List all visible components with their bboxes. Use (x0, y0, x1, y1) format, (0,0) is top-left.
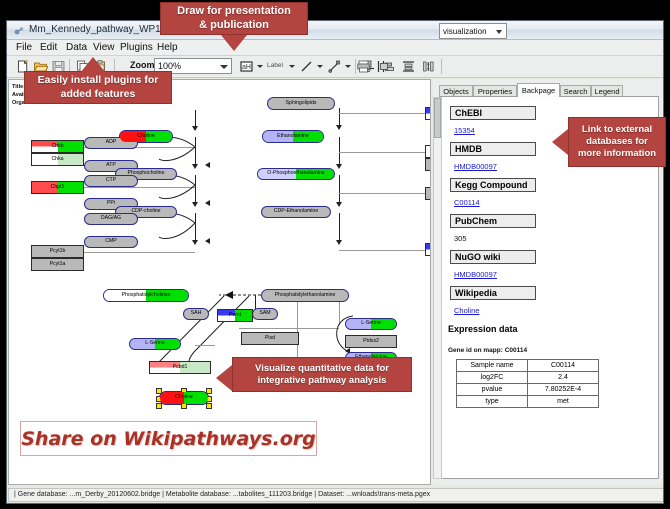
db-link-kegg[interactable]: C00114 (454, 198, 480, 207)
node-gene-sgpl1[interactable]: Sgpl1 (425, 107, 431, 120)
callout-plugins-arrow (80, 57, 106, 73)
line-icon[interactable] (299, 59, 314, 74)
callout-visualize-line1: Visualize quantitative data for (255, 363, 389, 375)
table-row: log2FC 2.4 (457, 372, 599, 384)
cell-label-log2fc: log2FC (457, 372, 528, 384)
callout-draw-arrow (221, 35, 247, 51)
node-gene-cept1[interactable]: Cept1 (425, 243, 431, 256)
statusbar: | Gene database: ...m_Derby_20120602.bri… (8, 488, 664, 502)
statusbar-text: | Gene database: ...m_Derby_20120602.bri… (14, 491, 430, 498)
anchor-dropdown-icon[interactable] (345, 65, 351, 68)
callout-draw: Draw for presentation & publication (160, 2, 308, 35)
edge-etnk-to-spine (339, 152, 425, 153)
window-titlebar: Mm_Kennedy_pathway_WP1771_45176.gpml (7, 21, 663, 40)
table-row: pvalue 7.80252E-4 (457, 384, 599, 396)
menu-help[interactable]: Help (155, 42, 180, 53)
panel-scrollbar-thumb[interactable] (434, 98, 441, 138)
label-dropdown-icon[interactable] (289, 65, 295, 68)
print-icon[interactable] (356, 59, 371, 74)
db-header-hmdb: HMDB (450, 142, 536, 156)
db-value-pubchem: 305 (454, 234, 467, 243)
menubar: File Edit Data View Plugins Help (7, 40, 663, 56)
arrow-ppi (205, 200, 210, 206)
table-row: type met (457, 396, 599, 408)
callout-plugins-line1: Easily install plugins for (38, 74, 159, 87)
svg-text:aH: aH (242, 64, 251, 71)
callout-visualize-line2: integrative pathway analysis (258, 375, 387, 387)
edge-lserine-left (195, 345, 215, 346)
node-gene-chpt1[interactable]: Chpt1 (31, 181, 84, 194)
node-gene-etnk1[interactable]: Etnk1 (425, 145, 431, 158)
distribute-horizontal-icon[interactable] (421, 59, 436, 74)
node-choline-top[interactable]: Choline (119, 130, 173, 143)
cell-label-type: type (457, 396, 528, 408)
db-header-chebi: ChEBI (450, 106, 536, 120)
menu-edit[interactable]: Edit (38, 42, 59, 53)
tab-backpage[interactable]: Backpage (517, 83, 560, 97)
datanode-icon[interactable]: aH (239, 59, 254, 74)
db-header-wikipedia: Wikipedia (450, 286, 536, 300)
chevron-down-icon (220, 65, 228, 69)
node-phosphatidylethanolamine[interactable]: Phosphatidylethanolamine (261, 289, 349, 302)
group-icon[interactable] (376, 59, 391, 74)
cell-value-type: met (528, 396, 599, 408)
edge-eth-down-2 (339, 175, 340, 205)
node-sah[interactable]: SAH (183, 308, 209, 320)
cell-value-sample: C00114 (528, 360, 599, 372)
node-gene-pcyt1b[interactable]: Pcyt1b (31, 245, 84, 258)
node-choline-selected[interactable]: Choline (159, 391, 209, 405)
expression-data-title: Expression data (448, 324, 518, 334)
db-link-hmdb[interactable]: HMDB00097 (454, 162, 497, 171)
gene-id-on-mapp: Gene id on mapp: C00114 (448, 347, 527, 354)
zoom-value: 100% (158, 61, 181, 71)
node-cdp-ethanolamine[interactable]: CDP-Ethanolamine (261, 206, 331, 218)
visualization-combobox[interactable]: visualization (439, 23, 507, 39)
node-ctp[interactable]: CTP (84, 175, 138, 187)
node-sam[interactable]: SAM (252, 308, 278, 320)
edge-sgpl1-to-spine (339, 113, 425, 114)
node-gene-pemt[interactable]: Pemt (217, 309, 253, 322)
menu-view[interactable]: View (91, 42, 117, 53)
callout-plugins-line2: added features (61, 88, 136, 101)
db-link-wikipedia[interactable]: Choline (454, 306, 479, 315)
arrow-atp (205, 162, 210, 168)
node-gene-chka[interactable]: Chka (31, 153, 84, 166)
db-header-pubchem: PubChem (450, 214, 536, 228)
node-gene-pcyt2[interactable]: Pcyt2 (425, 187, 431, 200)
edge-pcyt2-to-spine (339, 193, 425, 194)
callout-draw-line1: Draw for presentation (177, 5, 291, 19)
node-dag-ag[interactable]: DAG/AG (84, 213, 138, 225)
label-tool-label[interactable]: Label (267, 62, 283, 69)
node-gene-pcbd1[interactable]: Pcbd1 (149, 361, 211, 374)
panel-scrollbar[interactable] (433, 97, 442, 479)
callout-link-line1: Link to external (582, 124, 652, 136)
node-phosphatidylcholines[interactable]: Phosphatidylcholines (103, 289, 189, 302)
db-link-nugo[interactable]: HMDB00097 (454, 270, 497, 279)
screenshot-root: Mm_Kennedy_pathway_WP1771_45176.gpml Fil… (0, 0, 670, 509)
arrow-eth-2 (336, 202, 342, 207)
menu-data[interactable]: Data (64, 42, 89, 53)
edge-eth-down-3 (339, 213, 340, 243)
node-gene-pisd[interactable]: Pisd (241, 332, 299, 345)
cell-value-pvalue: 7.80252E-4 (528, 384, 599, 396)
arrow-choline-1 (192, 126, 198, 131)
visualization-value: visualization (443, 27, 487, 36)
edge-cept1-to-spine (339, 250, 425, 251)
menu-file[interactable]: File (14, 42, 34, 53)
cell-label-sample: Sample name (457, 360, 528, 372)
anchor-line-icon[interactable] (327, 59, 342, 74)
edge-pld (239, 328, 339, 329)
db-link-chebi[interactable]: 15354 (454, 126, 475, 135)
arrow-eth-3 (336, 240, 342, 245)
node-gene-ptdss2[interactable]: Ptdss2 (345, 335, 397, 348)
callout-plugins: Easily install plugins for added feature… (24, 71, 172, 104)
node-l-serine-left[interactable]: L-Serine (129, 338, 181, 350)
table-row: Sample name C00114 (457, 360, 599, 372)
arrow-cmp (205, 238, 210, 244)
node-cmp[interactable]: CMP (84, 236, 138, 248)
node-ethanolamine[interactable]: Ethanolamine (262, 130, 324, 143)
callout-visualize-arrow (216, 365, 232, 391)
callout-link-line2: databases for (586, 136, 648, 148)
node-gene-chkb[interactable]: Chkb (31, 140, 84, 153)
callout-link-arrow (552, 129, 568, 155)
expression-table: Sample name C00114 log2FC 2.4 pvalue 7.8… (456, 359, 599, 408)
callout-link-line3: more information (578, 148, 656, 160)
callout-share: Share on Wikipathways.org (20, 421, 317, 456)
cell-value-log2fc: 2.4 (528, 372, 599, 384)
node-l-serine-right[interactable]: L-Serine (345, 318, 397, 330)
edge-pcyt1-to-spine (84, 252, 195, 253)
callout-link: Link to external databases for more info… (568, 117, 666, 167)
arrow-eth-1 (336, 164, 342, 169)
callout-share-text: Share on Wikipathways.org (21, 428, 315, 450)
toolbar-separator-4 (441, 59, 442, 74)
node-o-phosphoethanolamine[interactable]: O-Phosphoethanolamine (257, 168, 335, 180)
cell-label-pvalue: pvalue (457, 384, 528, 396)
callout-draw-line2: & publication (199, 19, 269, 33)
db-header-nugo: NuGO wiki (450, 250, 536, 264)
db-header-kegg: Kegg Compound (450, 178, 536, 192)
curve-adp-atp (159, 132, 279, 172)
callout-visualize: Visualize quantitative data for integrat… (232, 357, 412, 392)
datanode-dropdown-icon[interactable] (257, 65, 263, 68)
node-gene-pcyt1a[interactable]: Pcyt1a (31, 258, 84, 271)
node-gene-etnk2[interactable]: Etnk2 (425, 158, 431, 171)
pathvisio-icon (13, 25, 25, 37)
distribute-vertical-icon[interactable] (401, 59, 416, 74)
node-sphingolipids[interactable]: Sphingolipids (267, 97, 335, 110)
line-dropdown-icon[interactable] (317, 65, 323, 68)
chevron-down-icon-2 (496, 30, 502, 34)
menu-plugins[interactable]: Plugins (118, 42, 155, 53)
arrow-eth-0 (336, 125, 342, 130)
